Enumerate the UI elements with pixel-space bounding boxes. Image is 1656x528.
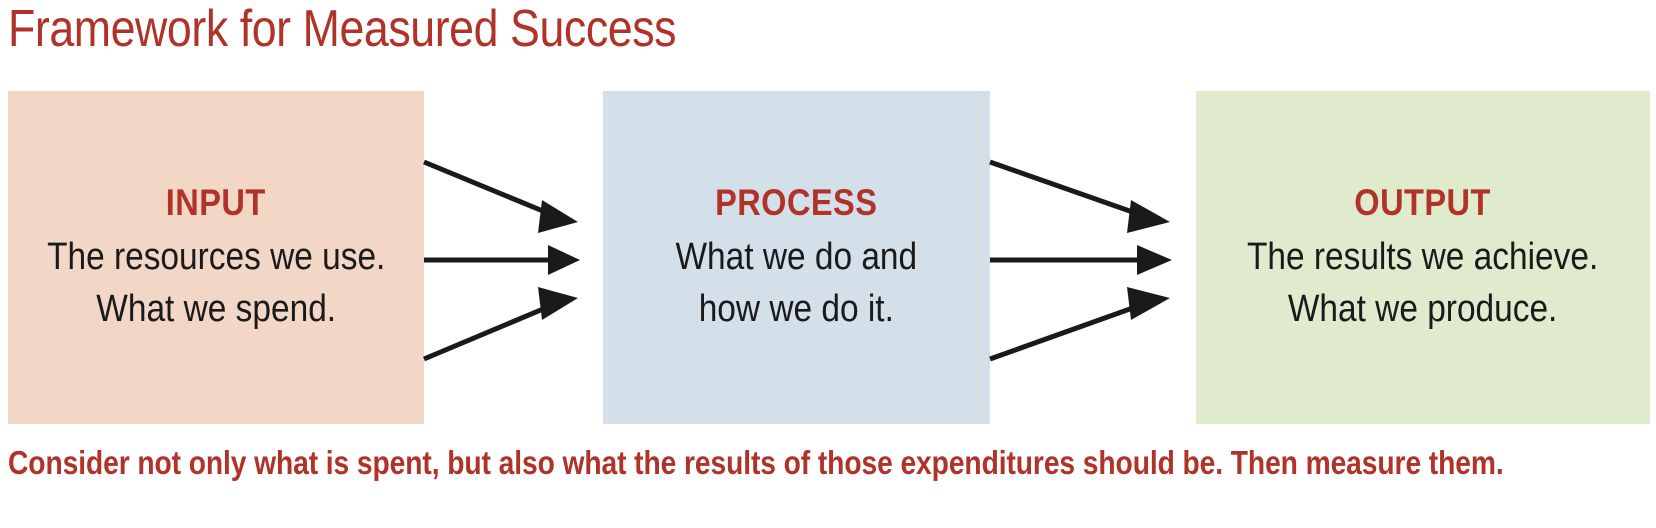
- connector-input-to-process: [418, 140, 608, 380]
- arrow-upper-icon: [990, 162, 1170, 233]
- output-box-heading: OUTPUT: [1355, 181, 1491, 225]
- input-box: INPUT The resources we use. What we spen…: [8, 91, 424, 424]
- page-title: Framework for Measured Success: [8, 0, 676, 60]
- process-box-body-line-2: how we do it.: [676, 283, 918, 335]
- output-box-body: The results we achieve. What we produce.: [1247, 231, 1598, 335]
- output-box-body-line-1: The results we achieve.: [1247, 231, 1598, 283]
- process-box-body: What we do and how we do it.: [676, 231, 918, 335]
- process-box-heading: PROCESS: [715, 181, 877, 225]
- connector-process-to-output: [984, 140, 1202, 380]
- input-box-heading: INPUT: [166, 181, 266, 225]
- input-box-body: The resources we use. What we spend.: [47, 231, 385, 335]
- process-box: PROCESS What we do and how we do it.: [603, 91, 990, 424]
- output-box: OUTPUT The results we achieve. What we p…: [1196, 91, 1650, 424]
- arrow-middle-icon: [424, 245, 580, 275]
- arrow-upper-icon: [424, 162, 578, 233]
- process-box-body-line-1: What we do and: [676, 231, 918, 283]
- caption-text: Consider not only what is spent, but als…: [8, 443, 1417, 483]
- arrow-middle-icon: [990, 245, 1172, 275]
- input-box-body-line-2: What we spend.: [47, 283, 385, 335]
- diagram-canvas: Framework for Measured Success INPUT The…: [0, 0, 1656, 528]
- output-box-body-line-2: What we produce.: [1247, 283, 1598, 335]
- arrow-lower-icon: [990, 287, 1170, 359]
- arrow-lower-icon: [424, 287, 578, 359]
- input-box-body-line-1: The resources we use.: [47, 231, 385, 283]
